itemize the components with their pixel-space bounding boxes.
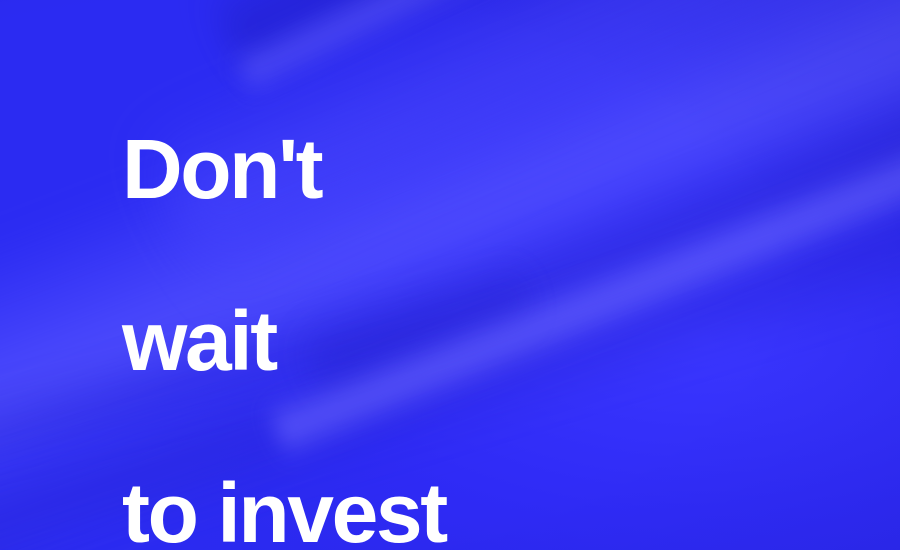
headline-line-1: Don't — [122, 126, 722, 212]
headline-line-3: to invest — [122, 470, 722, 550]
headline-line-2: wait — [122, 298, 722, 384]
hero-banner: Don't wait to invest in your future — [0, 0, 900, 550]
headline: Don't wait to invest in your future — [122, 40, 722, 550]
